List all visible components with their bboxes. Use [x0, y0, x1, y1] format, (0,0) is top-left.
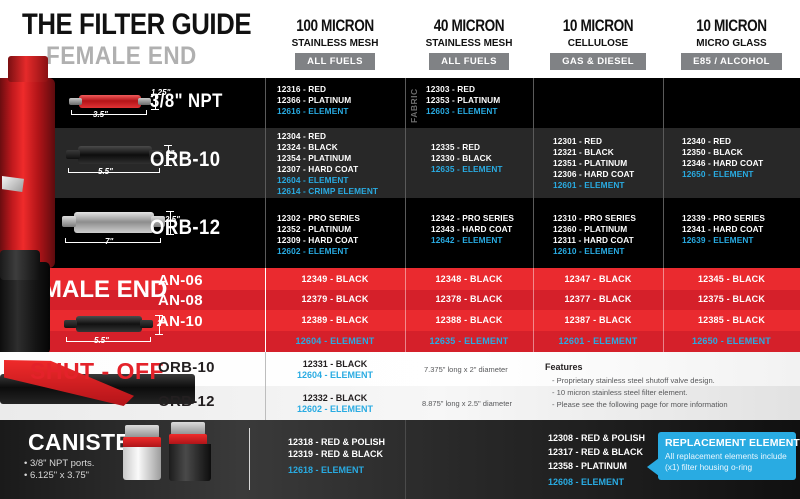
part-number-element: 12650 - ELEMENT: [682, 169, 763, 180]
part-number: 12342 - PRO SERIES: [431, 213, 514, 224]
part-number: 12351 - PLATINUM: [553, 158, 634, 169]
part-number: 12389 - BLACK: [265, 315, 405, 325]
part-number: 12353 - PLATINUM: [426, 95, 500, 106]
row-label-an10: AN-10: [158, 313, 203, 330]
part-number-element: 12602 - ELEMENT: [277, 246, 360, 257]
part-number-element: 12608 - ELEMENT: [548, 477, 624, 487]
part-number: 12360 - PLATINUM: [553, 224, 636, 235]
column-material-label: CELLULOSE: [536, 37, 660, 49]
part-number: 12301 - RED: [553, 136, 634, 147]
header: THE FILTER GUIDE FEMALE END 100 MICRON S…: [0, 0, 800, 78]
column-divider: [405, 420, 406, 499]
column-divider: [663, 78, 664, 268]
male-fitting-image: [0, 262, 50, 354]
dimension-length: 7": [105, 237, 113, 246]
column-micron-label: 10 MICRON: [677, 16, 787, 36]
part-number: 12302 - PRO SERIES: [277, 213, 360, 224]
part-number: 12306 - HARD COAT: [553, 169, 634, 180]
part-number-element: 12610 - ELEMENT: [553, 246, 636, 257]
part-number: 12354 - PLATINUM: [277, 153, 378, 164]
male-end-title: MALE END: [42, 276, 167, 304]
part-number: 12311 - HARD COAT: [553, 235, 636, 246]
part-number: 12345 - BLACK: [663, 274, 800, 284]
part-number: 12303 - RED: [426, 84, 500, 95]
canister-spec: • 3/8" NPT ports.: [24, 458, 94, 469]
parts-cell-orb12-100micron: 12302 - PRO SERIES 12352 - PLATINUM 1230…: [277, 213, 360, 257]
part-number-element: 12639 - ELEMENT: [682, 235, 765, 246]
row-label-shutoff-orb12: ORB-12: [158, 393, 215, 410]
column-material-label: MICRO GLASS: [666, 37, 796, 49]
column-micron-label: 10 MICRON: [546, 16, 650, 36]
part-number: 12330 - BLACK: [431, 153, 503, 164]
row-label-orb10: ORB-10: [150, 148, 220, 172]
part-number-element: 12635 - ELEMENT: [431, 164, 503, 175]
feature-item: - Please see the following page for more…: [552, 400, 728, 409]
part-number: 12387 - BLACK: [533, 315, 663, 325]
replacement-elements-callout: REPLACEMENT ELEMENTS All replacement ele…: [658, 432, 796, 480]
part-number: 12375 - BLACK: [663, 294, 800, 304]
column-fuel-badge: ALL FUELS: [295, 53, 375, 70]
part-number: 12331 - BLACK: [265, 359, 405, 369]
parts-cell-orb12-40micron: 12342 - PRO SERIES 12343 - HARD COAT 126…: [431, 213, 514, 246]
dimension-length: 5.5": [98, 167, 113, 176]
canister-bowl: [123, 447, 161, 480]
part-number: 12348 - BLACK: [405, 274, 533, 284]
column-header-100-micron: 100 MICRON STAINLESS MESH ALL FUELS: [265, 16, 405, 70]
parts-cell-orb12-microglass: 12339 - PRO SERIES 12341 - HARD COAT 126…: [682, 213, 765, 246]
part-number: 12377 - BLACK: [533, 294, 663, 304]
part-number: 12341 - HARD COAT: [682, 224, 765, 235]
part-number-element: 12601 - ELEMENT: [533, 336, 663, 346]
parts-cell-orb10-microglass: 12340 - RED 12350 - BLACK 12346 - HARD C…: [682, 136, 763, 180]
column-material-label: STAINLESS MESH: [269, 37, 402, 49]
callout-body: All replacement elements include (x1) fi…: [665, 451, 789, 473]
column-header-10-micron-micro-glass: 10 MICRON MICRO GLASS E85 / ALCOHOL: [663, 16, 800, 70]
column-divider: [405, 78, 406, 268]
filter-guide-page: THE FILTER GUIDE FEMALE END 100 MICRON S…: [0, 0, 800, 499]
features-heading: Features: [545, 362, 583, 372]
feature-item: - 10 micron stainless steel filter eleme…: [552, 388, 687, 397]
hero-filter-image: [0, 78, 55, 268]
shut-off-title: SHUT - OFF: [30, 358, 164, 385]
part-number: 12379 - BLACK: [265, 294, 405, 304]
part-number: 12366 - PLATINUM: [277, 95, 351, 106]
part-number: 12388 - BLACK: [405, 315, 533, 325]
fabric-side-label: FABRIC: [409, 83, 419, 123]
part-number-element: 12602 - ELEMENT: [265, 404, 405, 414]
part-number-element: 12618 - ELEMENT: [288, 465, 364, 475]
canister-spec: • 6.125" x 3.75": [24, 470, 89, 481]
parts-cell-orb10-40micron: 12335 - RED 12330 - BLACK 12635 - ELEMEN…: [431, 142, 503, 175]
part-number: 12339 - PRO SERIES: [682, 213, 765, 224]
hero-filter-cap: [8, 56, 48, 82]
column-fuel-badge: GAS & DIESEL: [550, 53, 646, 70]
parts-cell-orb10-cellulose: 12301 - RED 12321 - BLACK 12351 - PLATIN…: [553, 136, 634, 191]
part-number-element: 12616 - ELEMENT: [277, 106, 351, 117]
column-header-10-micron-cellulose: 10 MICRON CELLULOSE GAS & DIESEL: [533, 16, 663, 70]
female-end-table: 3.5" 1.25" 3/8" NPT FABRIC 12316 - RED 1…: [0, 78, 800, 268]
part-number: 12350 - BLACK: [682, 147, 763, 158]
feature-item: - Proprietary stainless steel shutoff va…: [552, 376, 715, 385]
column-divider: [533, 78, 534, 268]
part-number-element: 12601 - ELEMENT: [553, 180, 634, 191]
part-number: 12340 - RED: [682, 136, 763, 147]
part-number: 12335 - RED: [431, 142, 503, 153]
part-number-element: 12604 - ELEMENT: [265, 336, 405, 346]
canister-photo-polish: [122, 425, 166, 487]
callout-title: REPLACEMENT ELEMENTS: [665, 437, 789, 449]
row-label-shutoff-orb10: ORB-10: [158, 359, 215, 376]
part-number: 12349 - BLACK: [265, 274, 405, 284]
part-number: 12343 - HARD COAT: [431, 224, 514, 235]
part-number-element: 12635 - ELEMENT: [405, 336, 533, 346]
row-label-npt: 3/8" NPT: [150, 91, 223, 113]
part-number-element: 12604 - ELEMENT: [265, 370, 405, 380]
parts-cell-orb12-cellulose: 12310 - PRO SERIES 12360 - PLATINUM 1231…: [553, 213, 636, 257]
part-number: 12378 - BLACK: [405, 294, 533, 304]
parts-cell-npt-100micron: 12316 - RED 12366 - PLATINUM 12616 - ELE…: [277, 84, 351, 117]
part-number: 12352 - PLATINUM: [277, 224, 360, 235]
male-fitting-hex: [0, 250, 40, 280]
column-micron-label: 100 MICRON: [279, 16, 391, 36]
column-micron-label: 40 MICRON: [418, 16, 520, 36]
part-number-element: 12650 - ELEMENT: [663, 336, 800, 346]
part-number-element: 12604 - ELEMENT: [277, 175, 378, 186]
part-number-element: 12642 - ELEMENT: [431, 235, 514, 246]
part-number: 12346 - HARD COAT: [682, 158, 763, 169]
column-header-40-micron: 40 MICRON STAINLESS MESH ALL FUELS: [405, 16, 533, 70]
part-number: 12385 - BLACK: [663, 315, 800, 325]
part-number: 12321 - BLACK: [553, 147, 634, 158]
canister-photo-black: [168, 422, 216, 488]
part-number: 12304 - RED: [277, 131, 378, 142]
row-label-an06: AN-06: [158, 272, 203, 289]
part-number: 12319 - RED & BLACK: [288, 449, 383, 459]
dimension-length: 3.5": [93, 110, 108, 119]
shut-off-dimension: 8.875" long x 2.5" diameter: [422, 399, 512, 408]
hero-filter-logo: [2, 176, 24, 192]
shut-off-section: SHUT - OFF ORB-10 ORB-12 12331 - BLACK 1…: [0, 352, 800, 420]
row-label-orb12: ORB-12: [150, 216, 220, 240]
part-number: 12324 - BLACK: [277, 142, 378, 153]
page-title: THE FILTER GUIDE: [22, 8, 251, 42]
dimension-length: 5.5": [94, 336, 109, 345]
column-fuel-badge: ALL FUELS: [429, 53, 509, 70]
parts-cell-orb10-100micron: 12304 - RED 12324 - BLACK 12354 - PLATIN…: [277, 131, 378, 198]
column-divider: [249, 428, 250, 490]
column-fuel-badge: E85 / ALCOHOL: [681, 53, 782, 70]
column-material-label: STAINLESS MESH: [408, 37, 530, 49]
page-subtitle: FEMALE END: [46, 42, 197, 71]
part-number: 12308 - RED & POLISH: [548, 433, 645, 443]
part-number: 12318 - RED & POLISH: [288, 437, 385, 447]
part-number-element: 12603 - ELEMENT: [426, 106, 500, 117]
canister-bowl: [169, 444, 211, 481]
part-number: 12332 - BLACK: [265, 393, 405, 403]
part-number: 12317 - RED & BLACK: [548, 447, 643, 457]
part-number: 12358 - PLATINUM: [548, 461, 627, 471]
male-end-section: MALE END 5.5" 2" AN-06 AN-08 AN-10 12349…: [0, 268, 800, 352]
part-number: 12309 - HARD COAT: [277, 235, 360, 246]
parts-cell-npt-40micron: 12303 - RED 12353 - PLATINUM 12603 - ELE…: [426, 84, 500, 117]
row-label-an08: AN-08: [158, 292, 203, 309]
column-divider: [265, 78, 266, 268]
shut-off-dimension: 7.375" long x 2" diameter: [424, 365, 508, 374]
part-number-crimp-element: 12614 - CRIMP ELEMENT: [277, 186, 378, 197]
part-number: 12307 - HARD COAT: [277, 164, 378, 175]
part-number: 12310 - PRO SERIES: [553, 213, 636, 224]
part-number: 12347 - BLACK: [533, 274, 663, 284]
part-number: 12316 - RED: [277, 84, 351, 95]
